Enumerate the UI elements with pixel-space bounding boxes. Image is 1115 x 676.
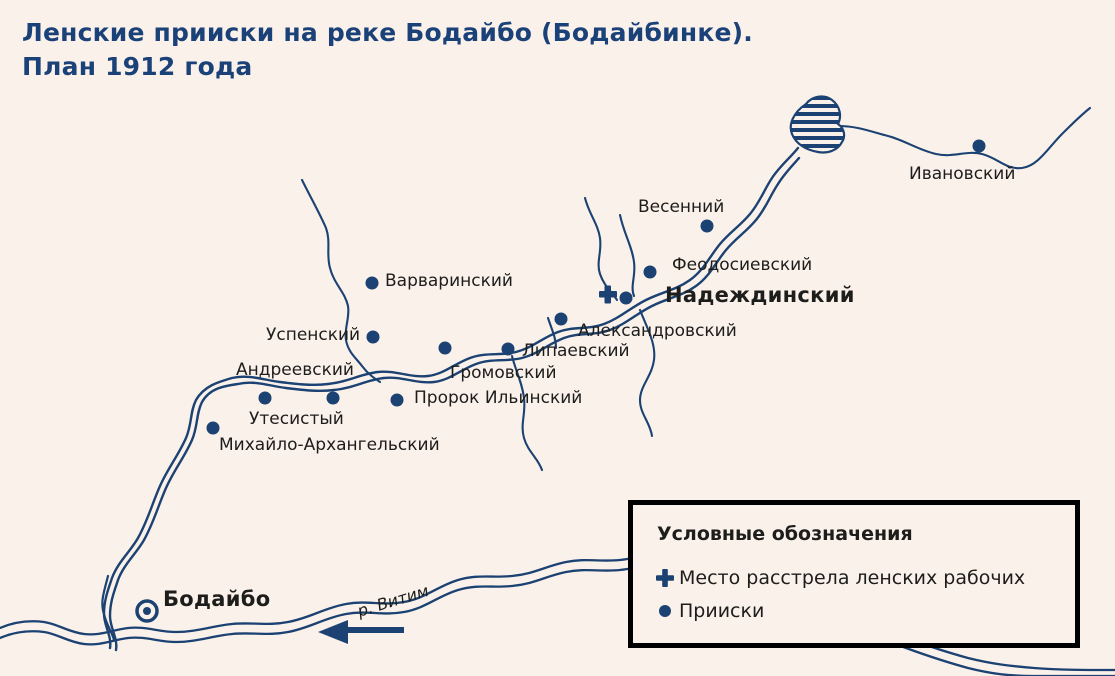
cross-icon [655, 568, 679, 588]
mine-dot-aleksandrovskiy[interactable] [555, 313, 568, 326]
mine-dot-gromovskiy[interactable] [439, 342, 452, 355]
map-label-uspenskiy: Успенский [266, 327, 360, 344]
mine-dot-lipaevskiy[interactable] [502, 343, 515, 356]
legend-title: Условные обозначения [657, 523, 913, 545]
legend-label-massacre: Место расстрела ленских рабочих [679, 567, 1025, 589]
map-label-aleksandrovskiy: Александровский [578, 323, 737, 340]
mine-dot-nadezhdinskiy[interactable] [620, 292, 633, 305]
legend-item-massacre: Место расстрела ленских рабочих [655, 567, 1025, 589]
mine-dot-uspenskiy[interactable] [367, 331, 380, 344]
hatched-lake-icon [791, 97, 844, 153]
legend-label-mines: Прииски [679, 600, 764, 622]
map-label-nadezhdinskiy: Надеждинский [665, 285, 855, 306]
map-label-prorok-ilinskiy: Пророк Ильинский [414, 390, 582, 407]
mine-dot-vesenniy[interactable] [701, 220, 714, 233]
mine-dot-prorok-ilinskiy-a[interactable] [391, 394, 404, 407]
dot-icon [655, 601, 679, 621]
map-label-andreevskiy: Андреевский [236, 362, 354, 379]
map-label-ivanovskiy: Ивановский [909, 166, 1015, 183]
circled-dot-icon[interactable] [137, 601, 157, 621]
flow-direction-arrow-icon [318, 620, 404, 644]
legend-item-mines: Прииски [655, 600, 764, 622]
cross-icon[interactable] [599, 286, 617, 304]
map-label-varvarinskiy: Варваринский [385, 273, 513, 290]
mine-dot-utesistyy[interactable] [327, 392, 340, 405]
legend-box: Условные обозначения Место расстрела лен… [628, 500, 1080, 648]
mine-dot-feodosievskiy[interactable] [644, 266, 657, 279]
map-label-gromovskiy: Громовский [450, 365, 557, 382]
map-page: Ленские прииски на реке Бодайбо (Бодайби… [0, 0, 1115, 676]
mine-dot-andreevskiy[interactable] [259, 392, 272, 405]
mine-dot-ivanovskiy[interactable] [973, 140, 986, 153]
map-label-vesenniy: Весенний [638, 199, 724, 216]
mine-dot-mihaylo-arhangelskiy[interactable] [207, 422, 220, 435]
map-label-lipaevskiy: Липаевский [522, 343, 630, 360]
mine-dot-varvarinskiy[interactable] [366, 277, 379, 290]
map-label-feodosievskiy: Феодосиевский [672, 257, 812, 274]
map-label-utesistyy: Утесистый [249, 411, 344, 428]
map-label-bodaybo-city: Бодайбо [163, 589, 270, 610]
map-label-mihaylo-arhangelskiy: Михайло-Архангельский [219, 437, 440, 454]
